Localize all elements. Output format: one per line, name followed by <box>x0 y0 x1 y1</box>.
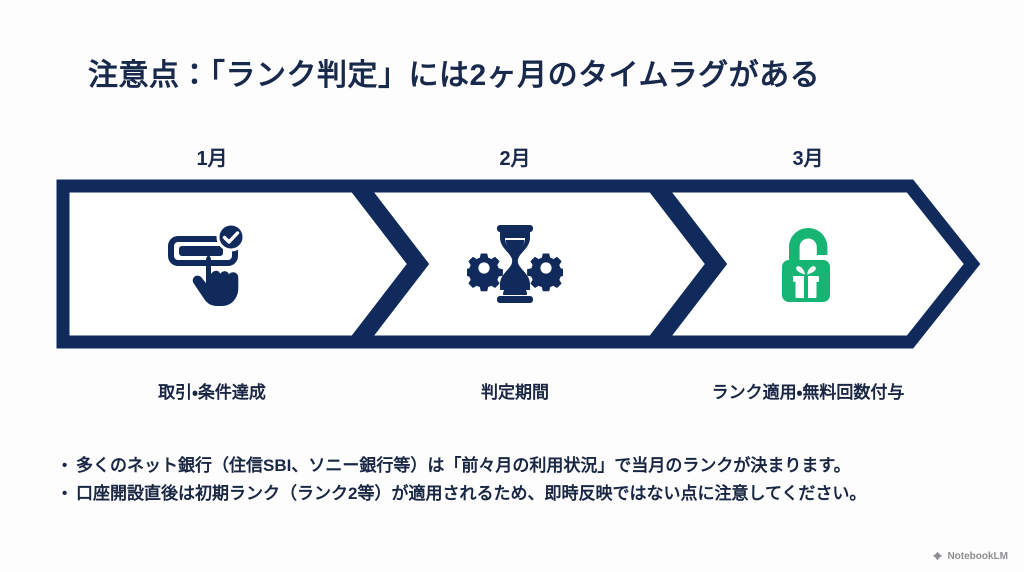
step-caption-2: 判定期間 <box>481 378 549 403</box>
month-label-2: 2月 <box>499 142 530 171</box>
list-item: • 口座開設直後は初期ランク（ランク2等）が適用されるため、即時反映ではない点に… <box>62 480 982 508</box>
list-item: • 多くのネット銀行（住信SBI、ソニー銀行等）は「前々月の利用状況」で当月のラ… <box>62 452 982 480</box>
step-caption-1: 取引・条件達成 <box>158 378 266 403</box>
unlocked-padlock-gift-icon <box>764 218 860 310</box>
notes-list: • 多くのネット銀行（住信SBI、ソニー銀行等）は「前々月の利用状況」で当月のラ… <box>62 452 982 508</box>
notebooklm-watermark: NotebookLM <box>932 551 1008 562</box>
step-caption-3: ランク適用・無料回数付与 <box>712 378 905 403</box>
step-2-icon <box>467 218 563 310</box>
month-label-1: 1月 <box>196 142 227 171</box>
step-1-icon <box>164 218 260 310</box>
bullet-dot-icon: • <box>62 480 76 508</box>
timeline-month-labels: 1月 2月 3月 <box>60 142 972 174</box>
page-title: 注意点：「ランク判定」には2ヶ月のタイムラグがある <box>88 50 820 94</box>
step-captions: 取引・条件達成 判定期間 ランク適用・無料回数付与 <box>60 378 972 408</box>
watermark-label: NotebookLM <box>947 551 1008 562</box>
notebooklm-logo-icon <box>932 551 943 562</box>
hand-tap-checkmark-icon <box>164 218 260 310</box>
month-label-3: 3月 <box>792 142 823 171</box>
note-text-1: 多くのネット銀行（住信SBI、ソニー銀行等）は「前々月の利用状況」で当月のランク… <box>76 452 851 480</box>
step-3-icon <box>764 218 860 310</box>
note-text-2: 口座開設直後は初期ランク（ランク2等）が適用されるため、即時反映ではない点に注意… <box>76 480 866 508</box>
process-flow-diagram <box>55 178 980 350</box>
bullet-dot-icon: • <box>62 452 76 480</box>
hourglass-gears-icon <box>467 218 563 310</box>
